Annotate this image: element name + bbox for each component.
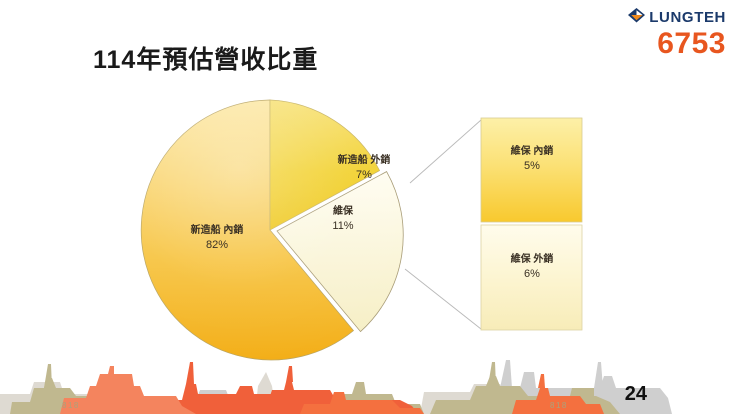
slide-canvas: LUNGTEH 6753 114年預估營收比重 [0, 0, 740, 414]
svg-text:818: 818 [550, 401, 568, 410]
pie-gloss-overlay [140, 100, 400, 360]
breakdown-box-maintenance-export[interactable] [481, 225, 582, 330]
ship-layer-orange-light [60, 366, 196, 414]
callout-connectors [405, 120, 481, 329]
svg-text:818: 818 [62, 401, 80, 410]
breakdown-box-maintenance-domestic[interactable] [481, 118, 582, 222]
page-number: 24 [625, 383, 647, 406]
